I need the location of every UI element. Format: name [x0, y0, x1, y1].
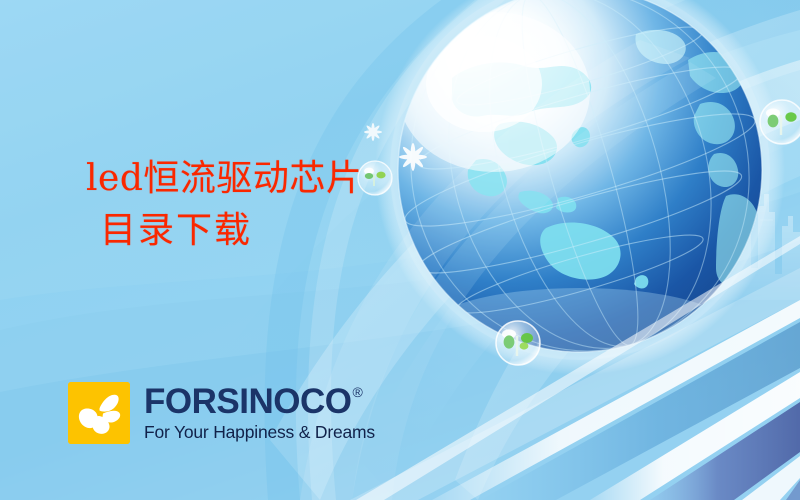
- registered-trademark-icon: ®: [352, 385, 362, 399]
- marketing-banner: led恒流驱动芯片 目录下载 FORSINOCO: [0, 0, 800, 500]
- sparkle-small: [364, 123, 382, 141]
- pinwheel-icon: [68, 382, 130, 444]
- headline-line-1: led恒流驱动芯片: [86, 160, 362, 198]
- forsinoco-pinwheel-mark: [68, 382, 130, 444]
- bubble-sprout-right: [760, 100, 800, 144]
- brand-name: FORSINOCO: [144, 384, 351, 419]
- headline: led恒流驱动芯片 目录下载: [86, 160, 362, 250]
- bubble-sprout-upper: [358, 161, 392, 195]
- headline-line-2: 目录下载: [100, 212, 362, 250]
- brand-tagline: For Your Happiness & Dreams: [144, 422, 375, 443]
- company-logo: FORSINOCO ® For Your Happiness & Dreams: [68, 382, 375, 444]
- sparkle-large: [399, 143, 427, 171]
- bubble-sprout-lower: [496, 321, 540, 365]
